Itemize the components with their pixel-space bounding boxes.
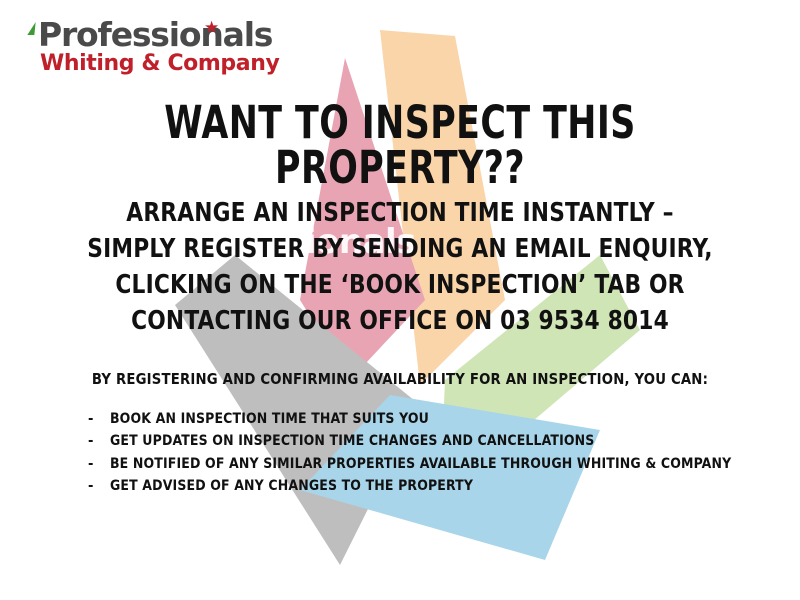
poster-canvas: Professionals Professionals ★ Whiting & … [0, 0, 800, 600]
list-item: - BE NOTIFIED OF ANY SIMILAR PROPERTIES … [88, 453, 768, 475]
poster-content: WANT TO INSPECT THIS PROPERTY?? ARRANGE … [0, 0, 800, 600]
logo-office-label: Whiting & Company [40, 53, 279, 75]
star-icon: ★ [204, 20, 218, 37]
brand-logo: Professionals ★ Whiting & Company [28, 18, 279, 75]
list-item: - BOOK AN INSPECTION TIME THAT SUITS YOU [88, 408, 768, 430]
list-item-label: GET ADVISED OF ANY CHANGES TO THE PROPER… [110, 475, 473, 497]
bullet-marker: - [88, 430, 110, 452]
list-item: - GET ADVISED OF ANY CHANGES TO THE PROP… [88, 475, 768, 497]
bullet-marker: - [88, 453, 110, 475]
benefits-intro: BY REGISTERING AND CONFIRMING AVAILABILI… [20, 370, 780, 388]
logo-brand-text: Professionals ★ [38, 18, 279, 51]
page-title: WANT TO INSPECT THIS PROPERTY?? [56, 100, 744, 190]
leaf-icon [27, 22, 35, 35]
benefits-list: - BOOK AN INSPECTION TIME THAT SUITS YOU… [88, 408, 768, 498]
list-item-label: BE NOTIFIED OF ANY SIMILAR PROPERTIES AV… [110, 453, 731, 475]
bullet-marker: - [88, 475, 110, 497]
list-item-label: GET UPDATES ON INSPECTION TIME CHANGES A… [110, 430, 594, 452]
logo-brand-label: Professionals [38, 15, 272, 54]
list-item-label: BOOK AN INSPECTION TIME THAT SUITS YOU [110, 408, 429, 430]
bullet-marker: - [88, 408, 110, 430]
list-item: - GET UPDATES ON INSPECTION TIME CHANGES… [88, 430, 768, 452]
lead-paragraph: ARRANGE AN INSPECTION TIME INSTANTLY – S… [79, 196, 721, 340]
